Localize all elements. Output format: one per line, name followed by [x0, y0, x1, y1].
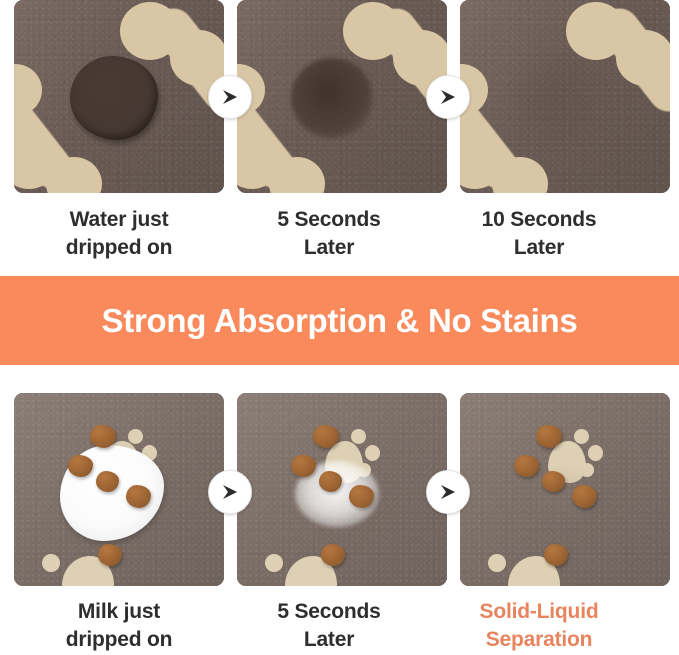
headline-text: Strong Absorption & No Stains	[102, 302, 578, 340]
kibble-piece	[90, 425, 116, 448]
arrow-right-icon	[426, 470, 470, 514]
paw-toe	[128, 429, 143, 444]
caption-milk-5-seconds: 5 Seconds Later	[224, 598, 434, 653]
arrow-right-icon	[208, 75, 252, 119]
water-puddle-soaking	[291, 58, 373, 138]
arrow-right-icon	[208, 470, 252, 514]
kibble-piece	[68, 455, 93, 477]
paw-toe	[488, 554, 506, 572]
caption-solid-liquid-separation: Solid-Liquid Separation	[434, 598, 644, 653]
water-puddle	[70, 56, 158, 140]
paw-toe	[365, 445, 380, 461]
headline-banner: Strong Absorption & No Stains	[0, 276, 679, 365]
kibble-piece	[313, 425, 339, 448]
paw-toe	[42, 554, 60, 572]
kibble-piece	[126, 485, 151, 508]
caption-line: Milk just	[14, 598, 224, 626]
paw-toe	[588, 445, 603, 461]
caption-water-just-dripped: Water just dripped on	[14, 206, 224, 261]
caption-line: 10 Seconds	[434, 206, 644, 234]
bottom-step-1-cell	[14, 393, 224, 586]
kibble-piece	[544, 544, 568, 566]
bone-knob	[616, 30, 670, 86]
top-step-1-cell	[14, 0, 224, 193]
bottom-photo-row	[0, 393, 679, 586]
bottom-step-2-cell	[237, 393, 447, 586]
kibble-piece	[96, 471, 119, 492]
absorption-infographic: Water just dripped on 5 Seconds Later 10…	[0, 0, 679, 655]
photo-water-10-seconds	[460, 0, 670, 193]
caption-line: Water just	[14, 206, 224, 234]
kibble-piece	[542, 471, 565, 492]
water-absorbed-area	[510, 54, 606, 146]
paw-toe	[351, 429, 366, 444]
caption-water-10-seconds: 10 Seconds Later	[434, 206, 644, 261]
caption-line: Later	[434, 234, 644, 262]
photo-water-5-seconds	[237, 0, 447, 193]
caption-line: Solid-Liquid	[434, 598, 644, 626]
caption-water-5-seconds: 5 Seconds Later	[224, 206, 434, 261]
top-photo-row	[0, 0, 679, 193]
bottom-caption-row: Milk just dripped on 5 Seconds Later Sol…	[0, 598, 679, 653]
caption-line: dripped on	[14, 234, 224, 262]
caption-line: 5 Seconds	[224, 206, 434, 234]
top-step-2-cell	[237, 0, 447, 193]
kibble-piece	[514, 455, 539, 477]
caption-line: Later	[224, 626, 434, 654]
photo-milk-5-seconds	[237, 393, 447, 586]
caption-line: 5 Seconds	[224, 598, 434, 626]
photo-milk-separated	[460, 393, 670, 586]
bottom-step-3-cell	[460, 393, 670, 586]
paw-toe	[265, 554, 283, 572]
kibble-piece	[572, 485, 597, 508]
kibble-piece	[536, 425, 562, 448]
caption-milk-just-dripped: Milk just dripped on	[14, 598, 224, 653]
arrow-right-icon	[426, 75, 470, 119]
top-caption-row: Water just dripped on 5 Seconds Later 10…	[0, 206, 679, 261]
photo-water-just-dripped	[14, 0, 224, 193]
caption-line: dripped on	[14, 626, 224, 654]
bone-knob	[170, 30, 224, 86]
top-step-3-cell	[460, 0, 670, 193]
caption-line: Later	[224, 234, 434, 262]
kibble-piece	[349, 485, 374, 508]
kibble-piece	[321, 544, 345, 566]
caption-line: Separation	[434, 626, 644, 654]
paw-toe	[574, 429, 589, 444]
kibble-piece	[98, 544, 122, 566]
kibble-piece	[291, 455, 316, 477]
photo-milk-just-dripped	[14, 393, 224, 586]
kibble-piece	[319, 471, 342, 492]
